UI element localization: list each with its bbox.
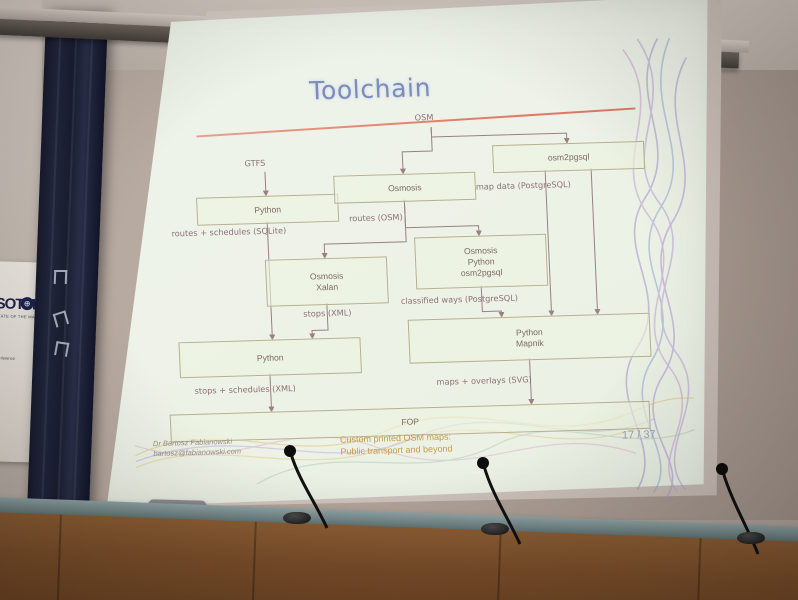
node-osmosis-python-osm2pgsql: Osmosis Python osm2pgsql [414, 234, 548, 290]
node-label: Python [254, 204, 281, 216]
edge-label-stops-xml: stops (XML) [303, 307, 352, 318]
node-label: Osmosis [310, 270, 344, 282]
microphone-base [283, 512, 311, 524]
node-label: Xalan [316, 281, 338, 293]
node-python-mid: Python [178, 337, 362, 378]
slide-page-number: 17 / 37 [622, 429, 656, 442]
node-osm2pgsql: osm2pgsql [492, 141, 645, 173]
presentation-slide: Toolchain [118, 48, 697, 488]
microphone-base [481, 523, 509, 535]
toolchain-diagram: Python Osmosis osm2pgsql Osmosis Xalan O… [118, 48, 697, 488]
node-osmosis: Osmosis [333, 172, 476, 204]
poster-text: conference [0, 355, 31, 362]
slide-footer-author: Dr Bartosz Fabianowski bartosz@fabianows… [153, 437, 242, 460]
node-python-mapnik: Python Mapnik [408, 313, 652, 364]
node-label: Python [468, 256, 495, 268]
node-label: Mapnik [516, 338, 544, 350]
node-label: Python [257, 352, 284, 364]
photo-scene: SOTM ⊕ STATE OF THE MAP 2011 conference [0, 0, 798, 600]
node-label: Osmosis [388, 182, 422, 194]
node-label: osm2pgsql [461, 266, 503, 278]
edge-label-gtfs: GTFS [244, 158, 265, 169]
curtain-hook-icon [54, 270, 68, 284]
node-label: osm2pgsql [548, 151, 590, 163]
edge-label-osm: OSM [414, 112, 433, 123]
node-python-gtfs: Python [196, 194, 339, 226]
slide-footer-talk-title: Custom printed OSM maps: Public transpor… [340, 430, 453, 457]
node-osmosis-xalan: Osmosis Xalan [265, 256, 389, 306]
node-label: FOP [401, 416, 419, 427]
curtain-hook-icon [54, 341, 69, 357]
node-label: Python [516, 327, 543, 339]
edge-label-routes-osm: routes (OSM) [349, 212, 403, 224]
microphone-base [737, 532, 765, 544]
